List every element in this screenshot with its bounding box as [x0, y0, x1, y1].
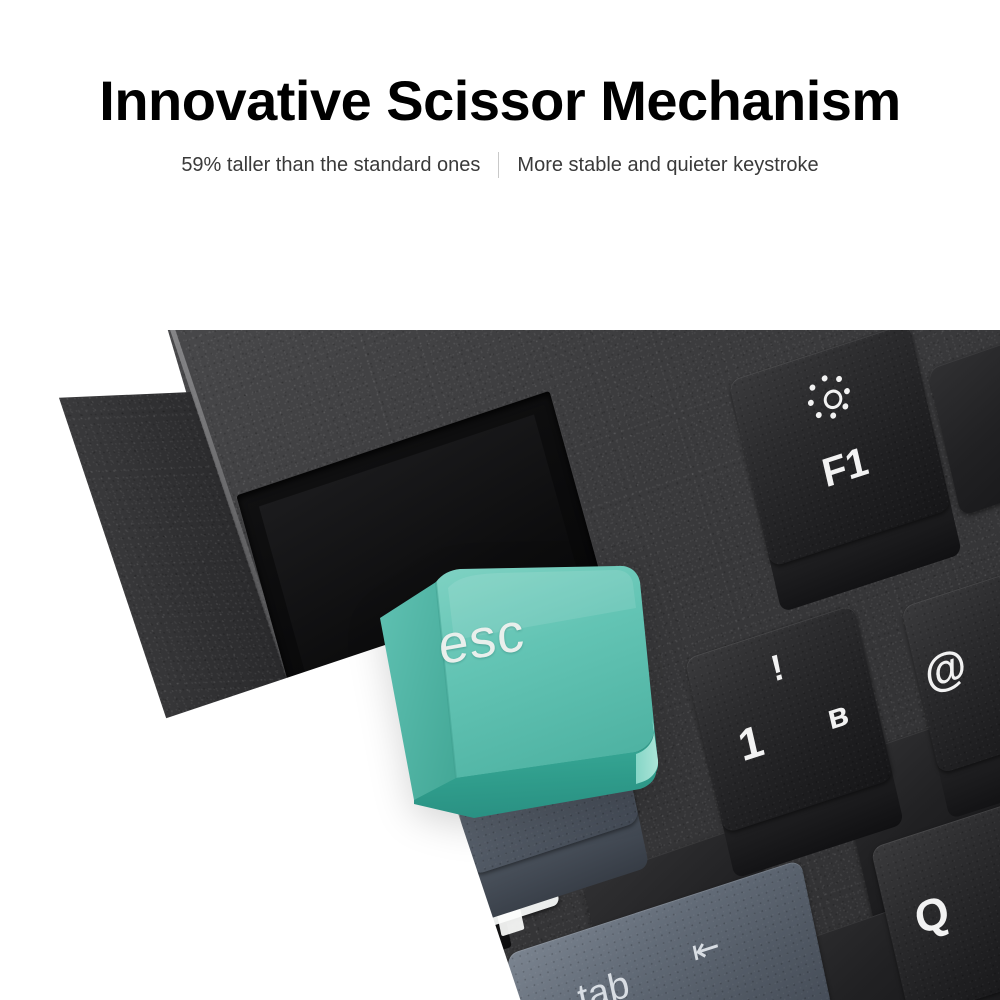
subtitle-divider [498, 152, 499, 178]
page-title: Innovative Scissor Mechanism [0, 68, 1000, 133]
floating-esc-keycap[interactable]: esc [318, 548, 658, 818]
subtitle-right: More stable and quieter keystroke [517, 154, 818, 177]
product-marketing-image: Innovative Scissor Mechanism 59% taller … [0, 0, 1000, 1000]
keyboard-closeup-photo: F1 ! 1 ʙ ~ ` @ [0, 330, 1000, 1000]
subtitle-row: 59% taller than the standard ones More s… [0, 152, 1000, 178]
subtitle-left: 59% taller than the standard ones [181, 154, 480, 177]
